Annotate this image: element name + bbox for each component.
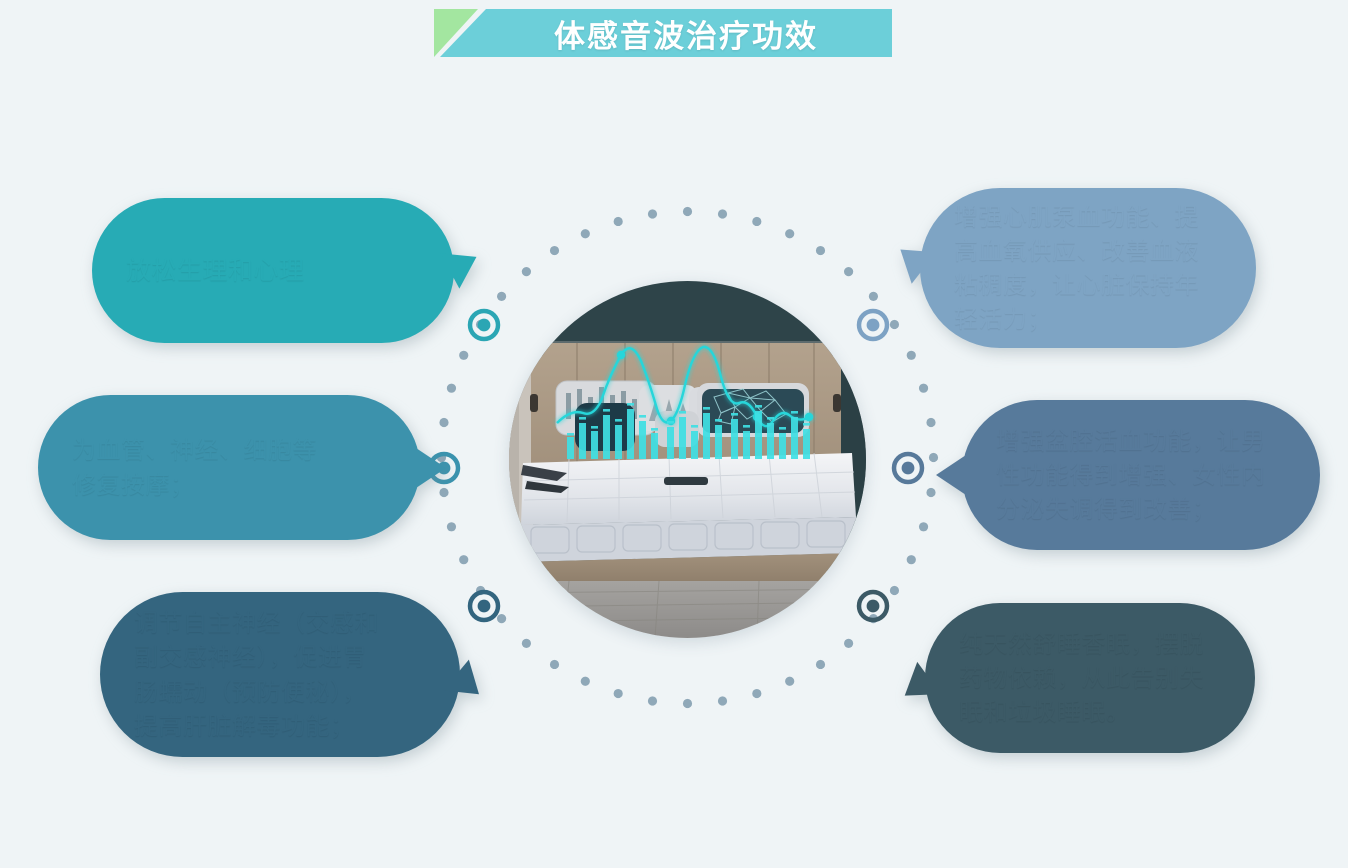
marker-relax-icon[interactable] — [466, 307, 502, 343]
orbit-dot — [752, 689, 761, 698]
orbit-dot — [907, 351, 916, 360]
orbit-dot — [581, 229, 590, 238]
orbit-dot — [447, 384, 456, 393]
bubble-nerve[interactable]: 调节自主神经（交感和 副交感神经），促进胃 肠蠕动（预防便秘）， 提高肝脏解毒功… — [100, 592, 460, 757]
bubble-heart-tail — [888, 234, 936, 284]
orbit-dot — [890, 320, 899, 329]
bubble-repair[interactable]: 为血管、神经、细胞等 修复按摩； — [38, 395, 420, 540]
orbit-dot — [907, 555, 916, 564]
bubble-relax-tail — [441, 239, 486, 288]
orbit-dot — [439, 418, 448, 427]
orbit-dot — [683, 207, 692, 216]
orbit-dot — [459, 351, 468, 360]
orbit-dot — [844, 639, 853, 648]
bubble-nerve-text: 调节自主神经（交感和 副交感神经），促进胃 肠蠕动（预防便秘）， 提高肝脏解毒功… — [134, 606, 379, 742]
bedroom-illustration — [509, 281, 866, 638]
orbit-dot — [550, 660, 559, 669]
page-title: 体感音波治疗功效 — [434, 9, 892, 57]
bubble-sleep[interactable]: 纯天然舒睡香眠，摆脱 药物依赖，从此告别失 眠和垃圾睡眠。 — [925, 603, 1255, 753]
bubble-repair-text: 为血管、神经、细胞等 修复按摩； — [72, 433, 317, 501]
orbit-dot — [926, 488, 935, 497]
orbit-dot — [550, 246, 559, 255]
orbit-dot — [439, 488, 448, 497]
bubble-pelvic-text: 增强盆腔活血功能，让男 性功能得到增强、女性内 分泌失调得到改善； — [996, 424, 1266, 526]
bubble-pelvic-body: 增强盆腔活血功能，让男 性功能得到增强、女性内 分泌失调得到改善； — [962, 400, 1320, 550]
orbit-dot — [816, 660, 825, 669]
bubble-nerve-tail — [443, 659, 492, 709]
orbit-dot — [648, 696, 657, 705]
orbit-dot — [581, 677, 590, 686]
orbit-dot — [683, 699, 692, 708]
marker-nerve-icon[interactable] — [466, 588, 502, 624]
orbit-dot — [497, 292, 506, 301]
orbit-dot — [648, 209, 657, 218]
orbit-dot — [919, 522, 928, 531]
bubble-repair-tail — [416, 448, 446, 488]
orbit-dot — [614, 689, 623, 698]
center-product-photo — [509, 281, 866, 638]
marker-sleep-icon[interactable] — [855, 588, 891, 624]
bubble-heart[interactable]: 增强心肌泵血功能、提 高血氧供应、改善血液 粘稠度，让心脏保持年 轻活力； — [920, 188, 1256, 348]
bubble-heart-text: 增强心肌泵血功能、提 高血氧供应、改善血液 粘稠度，让心脏保持年 轻活力； — [954, 200, 1199, 336]
orbit-dot — [459, 555, 468, 564]
bubble-repair-body: 为血管、神经、细胞等 修复按摩； — [38, 395, 420, 540]
marker-pelvic-icon[interactable] — [890, 450, 926, 486]
orbit-dot — [522, 267, 531, 276]
bubble-sleep-text: 纯天然舒睡香眠，摆脱 药物依赖，从此告别失 眠和垃圾睡眠。 — [959, 627, 1204, 729]
orbit-dot — [785, 229, 794, 238]
bubble-pelvic-tail — [936, 455, 966, 495]
title-banner: 体感音波治疗功效 — [434, 9, 892, 57]
infographic-canvas: 体感音波治疗功效 — [0, 0, 1348, 868]
orbit-dot — [844, 267, 853, 276]
orbit-dot — [718, 209, 727, 218]
orbit-dot — [869, 292, 878, 301]
orbit-dot — [919, 384, 928, 393]
bubble-relax[interactable]: 放松生理和心理 — [92, 198, 454, 343]
bubble-heart-body: 增强心肌泵血功能、提 高血氧供应、改善血液 粘稠度，让心脏保持年 轻活力； — [920, 188, 1256, 348]
orbit-dot — [890, 586, 899, 595]
bubble-nerve-body: 调节自主神经（交感和 副交感神经），促进胃 肠蠕动（预防便秘）， 提高肝脏解毒功… — [100, 592, 460, 757]
orbit-dot — [926, 418, 935, 427]
bubble-sleep-tail — [893, 662, 941, 712]
orbit-dot — [785, 677, 794, 686]
bubble-relax-text: 放松生理和心理 — [126, 253, 305, 289]
bubble-pelvic[interactable]: 增强盆腔活血功能，让男 性功能得到增强、女性内 分泌失调得到改善； — [962, 400, 1320, 550]
marker-heart-icon[interactable] — [855, 307, 891, 343]
orbit-dot — [718, 696, 727, 705]
orbit-dot — [522, 639, 531, 648]
orbit-dot — [752, 217, 761, 226]
bubble-relax-body: 放松生理和心理 — [92, 198, 454, 343]
orbit-dot — [447, 522, 456, 531]
bubble-sleep-body: 纯天然舒睡香眠，摆脱 药物依赖，从此告别失 眠和垃圾睡眠。 — [925, 603, 1255, 753]
orbit-dot — [614, 217, 623, 226]
orbit-dot — [816, 246, 825, 255]
